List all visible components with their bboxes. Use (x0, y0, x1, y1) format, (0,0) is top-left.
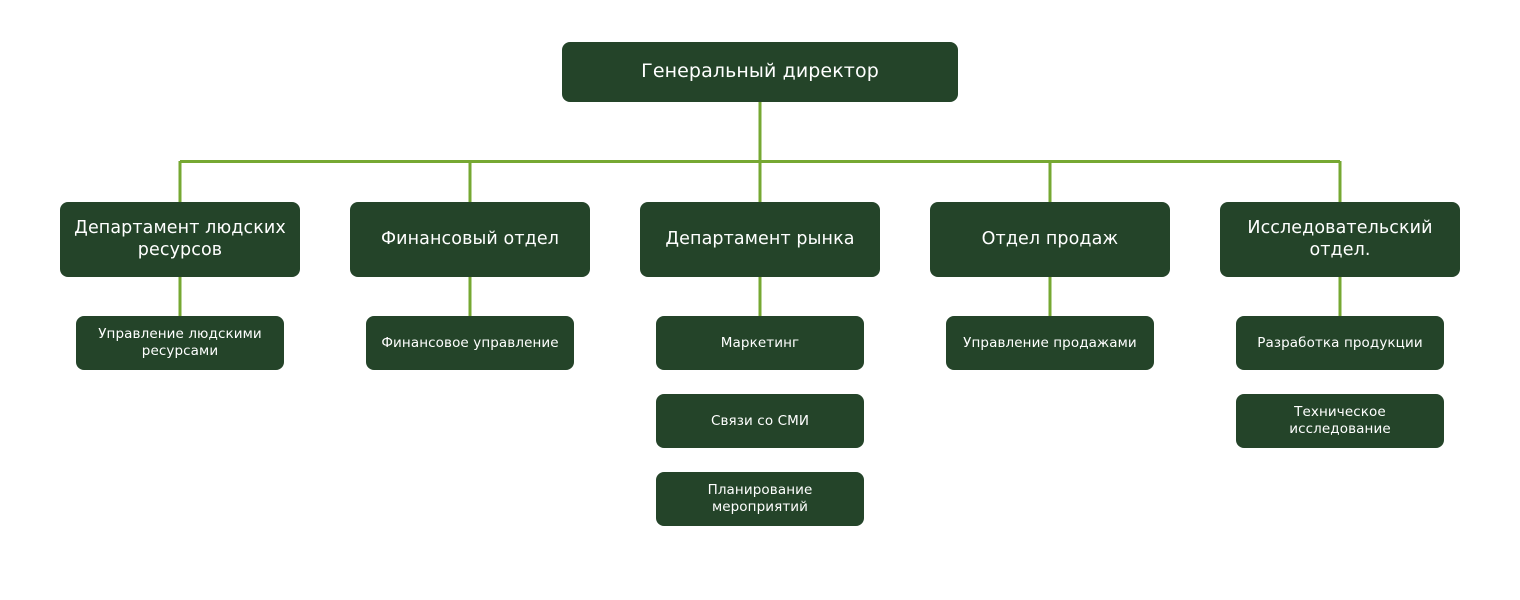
node-department-finance-label: Финансовый отдел (360, 229, 580, 251)
node-department-research[interactable]: Исследовательский отдел. (1220, 202, 1460, 277)
node-event-planning-label: Планирование мероприятий (666, 482, 854, 516)
node-technical-research[interactable]: Техническое исследование (1236, 394, 1444, 448)
node-department-market-label: Департамент рынка (650, 229, 870, 251)
node-product-development-label: Разработка продукции (1246, 335, 1434, 352)
node-ceo-label: Генеральный директор (572, 60, 948, 84)
node-department-research-label: Исследовательский отдел. (1230, 218, 1450, 262)
node-hr-management-label: Управление людскими ресурсами (86, 326, 274, 360)
node-media-relations[interactable]: Связи со СМИ (656, 394, 864, 448)
node-finance-management-label: Финансовое управление (376, 335, 564, 352)
node-department-hr[interactable]: Департамент людских ресурсов (60, 202, 300, 277)
org-chart: Генеральный директор Департамент людских… (0, 0, 1520, 600)
node-sales-management-label: Управление продажами (956, 335, 1144, 352)
node-finance-management[interactable]: Финансовое управление (366, 316, 574, 370)
node-technical-research-label: Техническое исследование (1246, 404, 1434, 438)
node-department-market[interactable]: Департамент рынка (640, 202, 880, 277)
node-sales-management[interactable]: Управление продажами (946, 316, 1154, 370)
node-department-sales-label: Отдел продаж (940, 229, 1160, 251)
node-department-hr-label: Департамент людских ресурсов (70, 218, 290, 262)
node-media-relations-label: Связи со СМИ (666, 413, 854, 430)
node-department-sales[interactable]: Отдел продаж (930, 202, 1170, 277)
node-event-planning[interactable]: Планирование мероприятий (656, 472, 864, 526)
node-ceo[interactable]: Генеральный директор (562, 42, 958, 102)
node-hr-management[interactable]: Управление людскими ресурсами (76, 316, 284, 370)
node-marketing[interactable]: Маркетинг (656, 316, 864, 370)
node-department-finance[interactable]: Финансовый отдел (350, 202, 590, 277)
node-product-development[interactable]: Разработка продукции (1236, 316, 1444, 370)
node-marketing-label: Маркетинг (666, 335, 854, 352)
